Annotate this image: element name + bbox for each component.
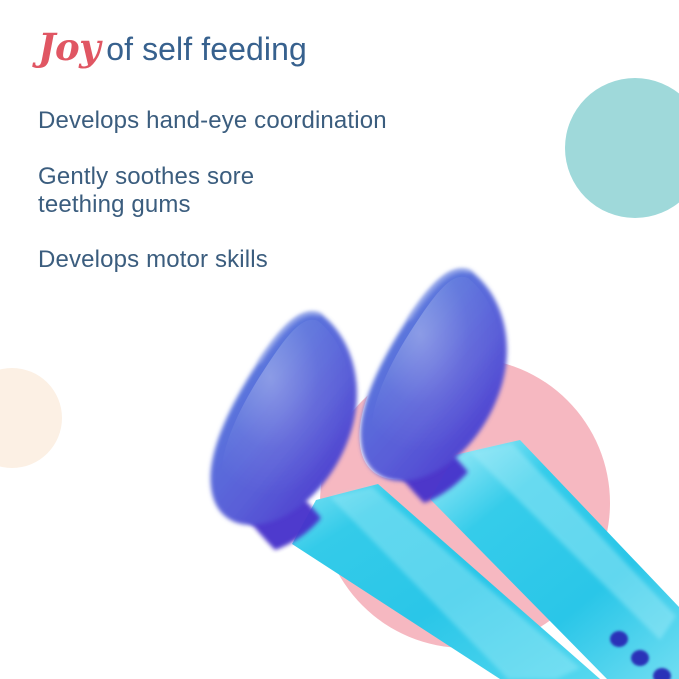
page-title: Joyof self feeding	[38, 24, 508, 70]
headline-rest: of self feeding	[106, 31, 307, 67]
handle-dots	[610, 631, 671, 679]
teal-circle	[565, 78, 679, 218]
cream-circle	[0, 368, 62, 468]
benefit-item: Develops hand-eye coordination	[38, 107, 508, 135]
pink-circle	[320, 358, 610, 648]
headline-script-word: Joy	[38, 25, 106, 69]
product-feature-graphic: Joyof self feeding Develops hand-eye coo…	[0, 0, 679, 679]
copy-block: Joyof self feeding Develops hand-eye coo…	[38, 24, 508, 275]
benefit-item: Develops motor skills	[38, 246, 508, 274]
benefit-item: Gently soothes sore teething gums	[38, 163, 508, 219]
